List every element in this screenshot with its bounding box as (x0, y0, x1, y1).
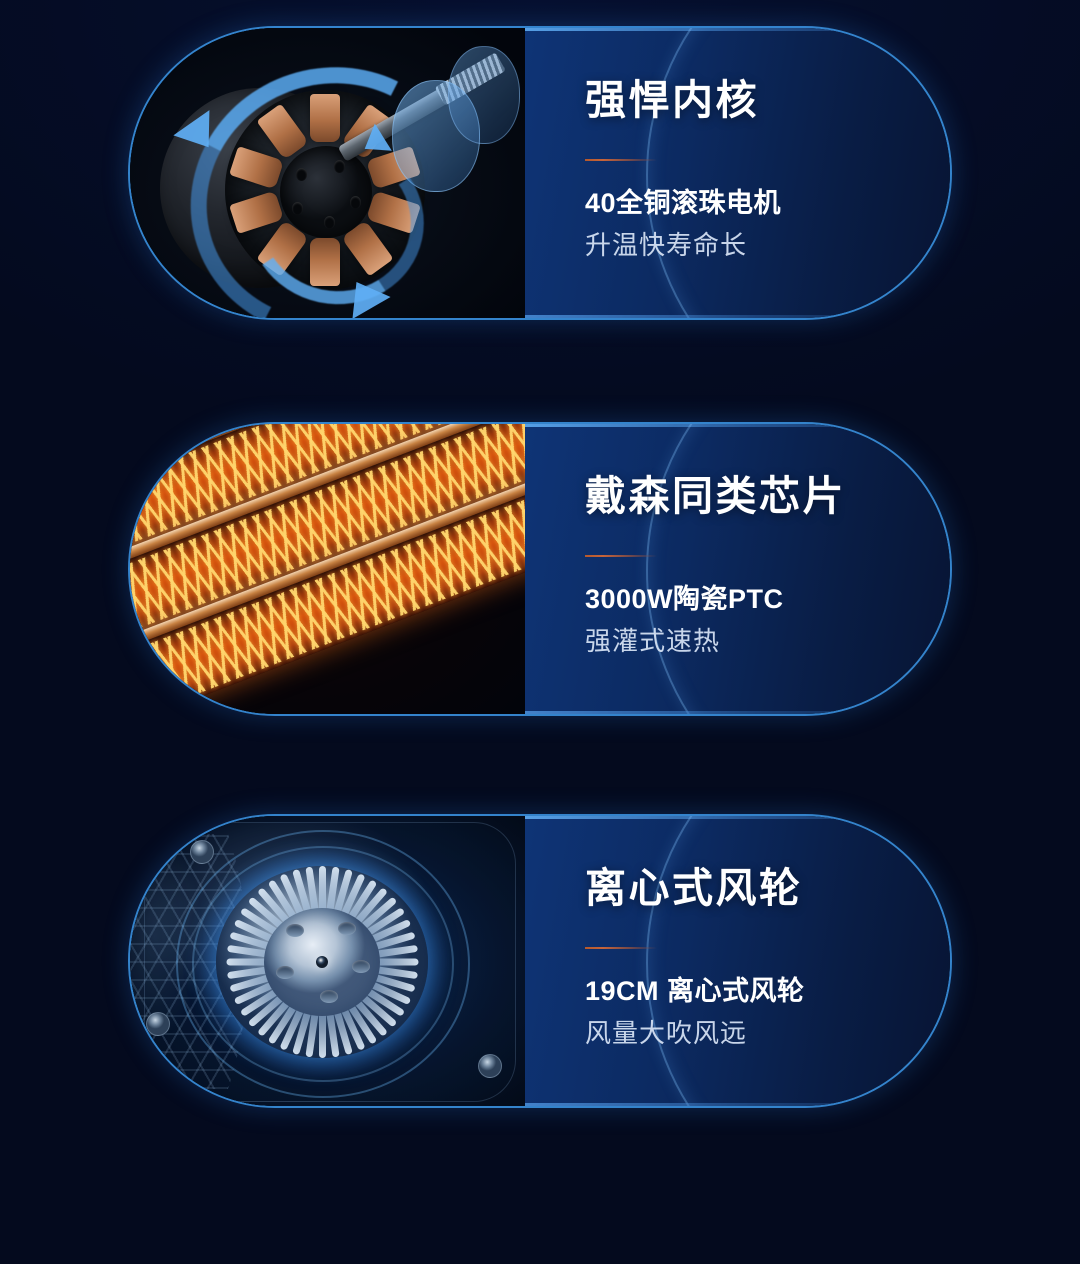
centrifugal-blower-wheel-illustration (130, 816, 525, 1106)
feature-text-panel: 强悍内核 40全铜滚珠电机 升温快寿命长 (525, 28, 950, 318)
fan-center-pin (316, 956, 328, 968)
feature-card-ptc-chip[interactable]: 戴森同类芯片 3000W陶瓷PTC 强灌式速热 (130, 424, 950, 714)
motor-rotor-illustration (130, 28, 525, 318)
feature-title: 强悍内核 (585, 78, 910, 123)
feature-card-core-motor[interactable]: 强悍内核 40全铜滚珠电机 升温快寿命长 (130, 28, 950, 318)
feature-spec: 19CM 离心式风轮 (585, 975, 910, 1009)
feature-benefit: 升温快寿命长 (585, 229, 910, 263)
mount-screw-icon (478, 1054, 502, 1078)
promo-page: 强悍内核 40全铜滚珠电机 升温快寿命长 (0, 0, 1080, 1264)
feature-title: 离心式风轮 (585, 866, 910, 911)
feature-spec: 40全铜滚珠电机 (585, 187, 910, 221)
feature-card-centrifugal-fan[interactable]: 离心式风轮 19CM 离心式风轮 风量大吹风远 (130, 816, 950, 1106)
accent-rule (585, 159, 657, 161)
ball-bearing-secondary-shape (448, 46, 520, 144)
ptc-heating-element-illustration (130, 424, 525, 714)
feature-text-panel: 离心式风轮 19CM 离心式风轮 风量大吹风远 (525, 816, 950, 1106)
feature-text-panel: 戴森同类芯片 3000W陶瓷PTC 强灌式速热 (525, 424, 950, 714)
feature-spec: 3000W陶瓷PTC (585, 583, 910, 617)
accent-rule (585, 947, 657, 949)
feature-benefit: 风量大吹风远 (585, 1017, 910, 1051)
accent-rule (585, 555, 657, 557)
mount-screw-icon (190, 840, 214, 864)
feature-benefit: 强灌式速热 (585, 625, 910, 659)
feature-title: 戴森同类芯片 (585, 474, 910, 519)
mount-screw-icon (146, 1012, 170, 1036)
